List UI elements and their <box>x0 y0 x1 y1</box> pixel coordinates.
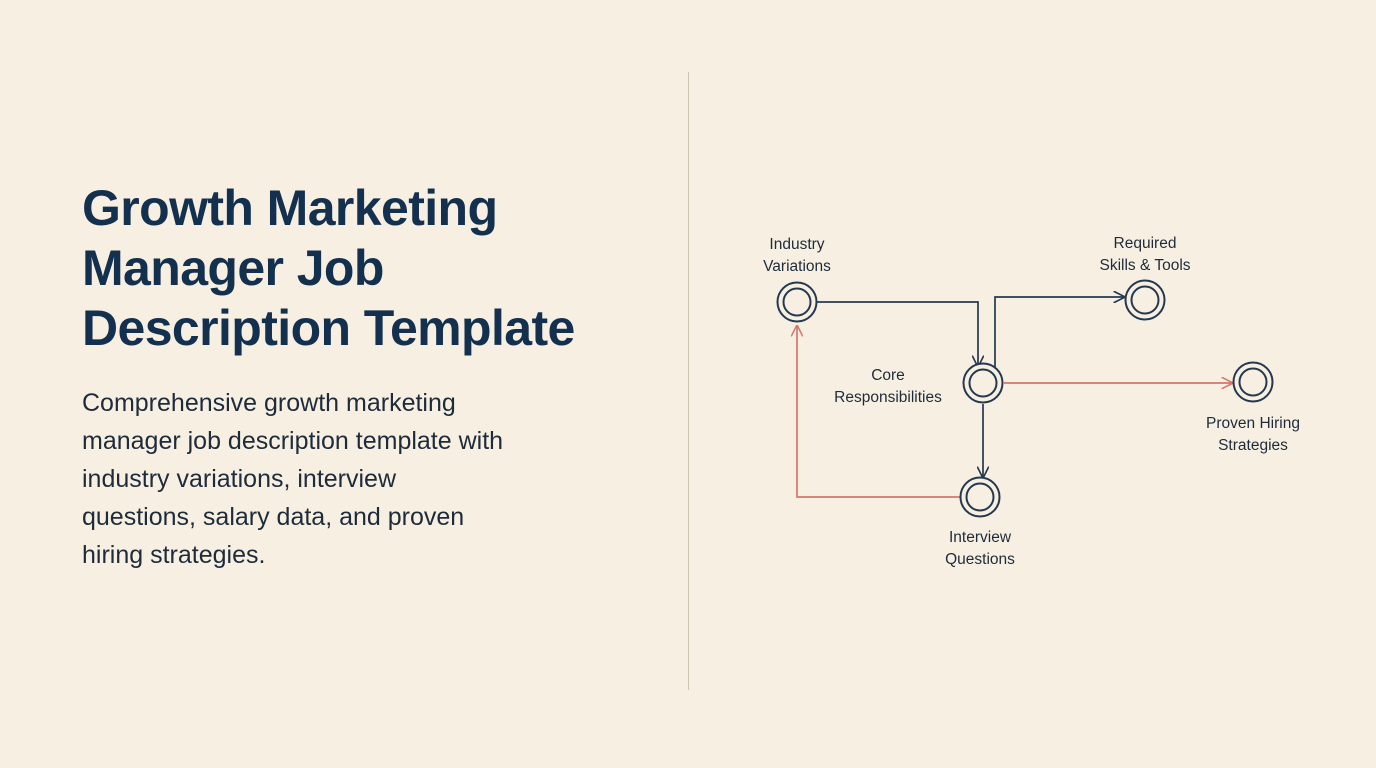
edge-core-to-skills <box>995 297 1124 383</box>
node-label-core-line2: Responsibilities <box>834 389 942 406</box>
node-proven-hiring[interactable]: Proven Hiring Strategies <box>1206 363 1300 455</box>
node-label-hiring-line2: Strategies <box>1218 437 1288 454</box>
node-label-industry-line1: Industry <box>769 236 824 253</box>
node-industry-variations[interactable]: Industry Variations <box>763 236 831 322</box>
node-inner-ring <box>1240 369 1267 396</box>
node-label-skills-line2: Skills & Tools <box>1099 257 1190 274</box>
concept-diagram: Industry Variations Required Skills & To… <box>700 200 1360 600</box>
diagram-svg: Industry Variations Required Skills & To… <box>700 200 1360 600</box>
node-core-responsibilities[interactable]: Core Responsibilities <box>834 364 1002 407</box>
node-inner-ring <box>970 370 997 397</box>
node-label-interview-line2: Questions <box>945 551 1015 568</box>
slide-canvas: Growth Marketing Manager Job Description… <box>0 0 1376 768</box>
page-subtitle: Comprehensive growth marketing manager j… <box>82 384 622 574</box>
edge-industry-to-core <box>817 302 978 366</box>
vertical-divider <box>688 72 689 690</box>
node-label-hiring-line1: Proven Hiring <box>1206 415 1300 432</box>
edge-interview-to-industry <box>797 326 961 497</box>
text-column: Growth Marketing Manager Job Description… <box>82 178 642 574</box>
node-label-core-line1: Core <box>871 367 905 384</box>
node-interview-questions[interactable]: Interview Questions <box>945 478 1015 569</box>
node-label-skills-line1: Required <box>1114 235 1177 252</box>
node-inner-ring <box>1132 287 1159 314</box>
node-required-skills[interactable]: Required Skills & Tools <box>1099 235 1190 320</box>
page-title: Growth Marketing Manager Job Description… <box>82 178 627 358</box>
node-label-interview-line1: Interview <box>949 529 1012 546</box>
node-label-industry-line2: Variations <box>763 258 831 275</box>
node-inner-ring <box>967 484 994 511</box>
node-inner-ring <box>784 289 811 316</box>
